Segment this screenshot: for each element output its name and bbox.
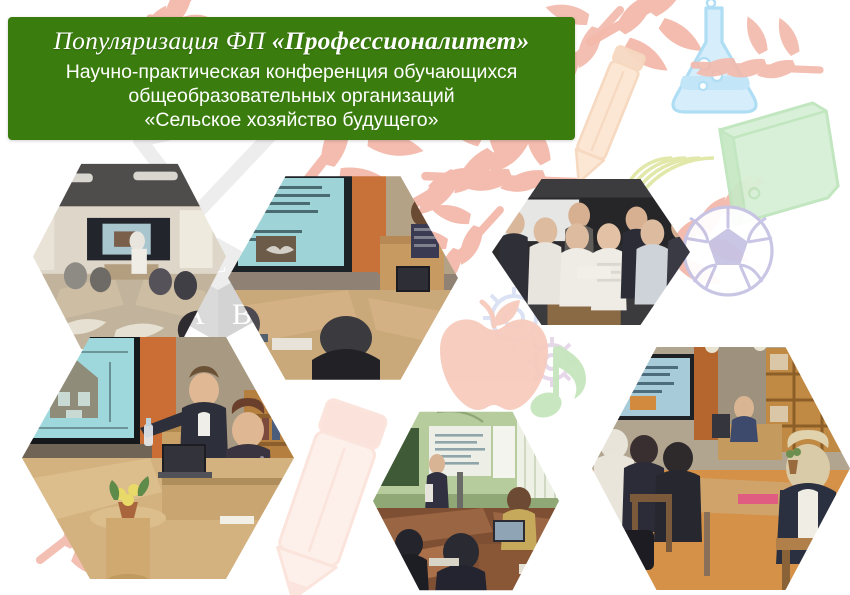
book-icon [718, 101, 842, 225]
photo-hex-green-classroom-projector [373, 408, 559, 594]
photo-image [373, 408, 559, 594]
pencil-icon [565, 45, 646, 188]
poster-canvas: A B C [0, 0, 850, 595]
banner-headline-program: «Профессионалитет» [272, 26, 530, 55]
photo-image [22, 332, 294, 584]
banner-subtitle-line-2: общеобразовательных организаций [128, 84, 454, 108]
apple-icon [440, 300, 548, 410]
title-banner: Популяризация ФП «Профессионалитет» Науч… [8, 17, 575, 140]
banner-headline: Популяризация ФП «Профессионалитет» [54, 26, 530, 56]
photo-image [33, 160, 226, 353]
photo-hex-student-presenting-house-plan [22, 332, 294, 584]
photo-hex-library-seminar [592, 342, 850, 595]
banner-subtitle-line-3: «Сельское хозяйство будущего» [145, 108, 439, 132]
pencil-large-icon [263, 398, 387, 595]
photo-hex-group-photo [492, 176, 690, 328]
photo-hex-classroom-round-table [33, 160, 226, 353]
soccer-ball-icon [684, 207, 772, 295]
banner-headline-prefix: Популяризация ФП [54, 26, 272, 55]
banner-subtitle-line-1: Научно-практическая конференция обучающи… [66, 60, 518, 84]
photo-image [228, 172, 458, 384]
music-note-icon [527, 345, 586, 422]
flask-icon [673, 0, 756, 112]
photo-image [592, 342, 850, 595]
photo-image [492, 176, 690, 328]
photo-hex-lecture-hall-podium [228, 172, 458, 384]
